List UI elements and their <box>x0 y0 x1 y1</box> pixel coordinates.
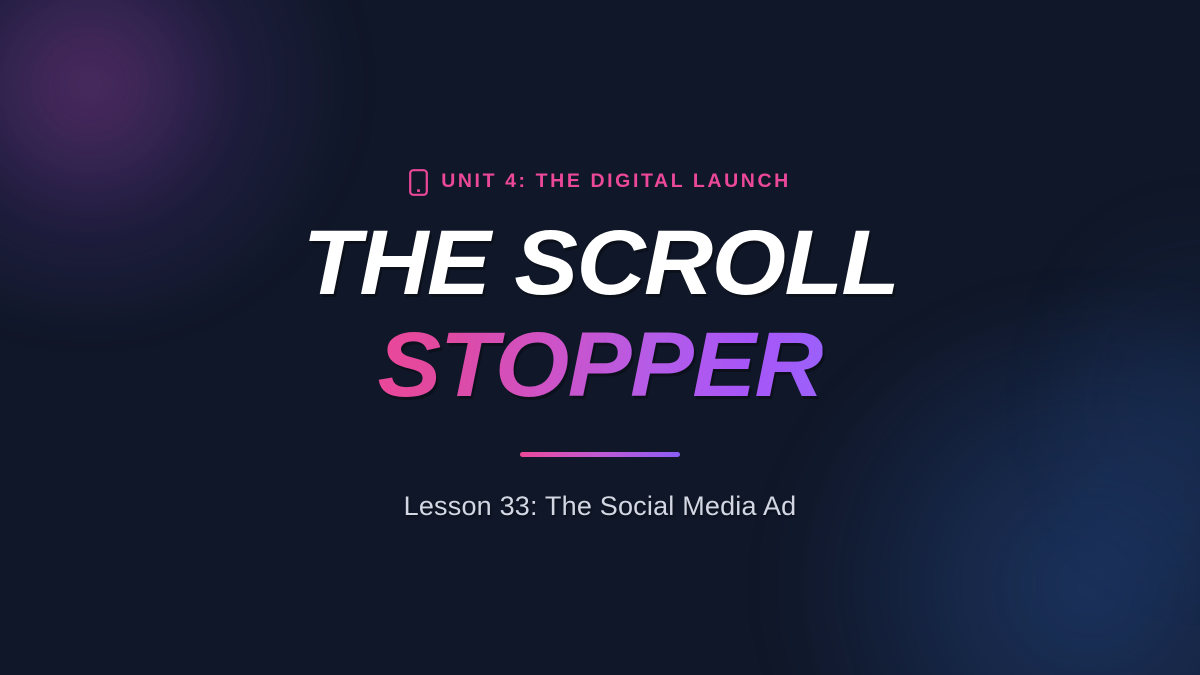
gradient-divider <box>520 452 680 457</box>
slide-content: UNIT 4: THE DIGITAL LAUNCH THE SCROLL ST… <box>0 0 1200 675</box>
title-slide: UNIT 4: THE DIGITAL LAUNCH THE SCROLL ST… <box>0 0 1200 675</box>
slide-title: THE SCROLL STOPPER <box>314 218 887 410</box>
title-line-two: STOPPER <box>378 320 823 410</box>
unit-eyebrow: UNIT 4: THE DIGITAL LAUNCH <box>409 168 791 196</box>
title-line-one: THE SCROLL <box>302 218 898 308</box>
unit-eyebrow-label: UNIT 4: THE DIGITAL LAUNCH <box>441 172 791 192</box>
mobile-phone-icon <box>409 169 428 196</box>
lesson-subtitle: Lesson 33: The Social Media Ad <box>404 490 797 522</box>
